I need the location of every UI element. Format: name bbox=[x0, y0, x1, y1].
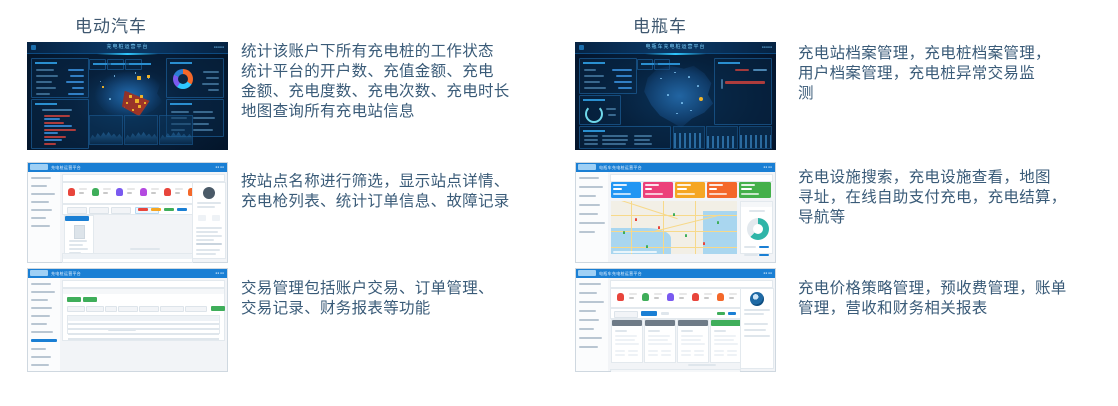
dashboard-clock: ●●●●● bbox=[762, 45, 772, 49]
kpi-card-orange[interactable] bbox=[707, 182, 737, 198]
brand-logo bbox=[30, 164, 48, 170]
description-price-policy: 充电价格策略管理，预收费管理，账单 管理，营收和财务相关报表 bbox=[798, 279, 1108, 319]
sparkline-3 bbox=[739, 126, 772, 149]
admin-content bbox=[60, 278, 227, 371]
kpi-card-amber[interactable] bbox=[675, 182, 705, 198]
account-aside bbox=[740, 288, 774, 369]
sparkline-2 bbox=[706, 126, 738, 149]
user-menu[interactable]: ●● ●● bbox=[763, 271, 772, 275]
description-station-detail: 按站点名称进行筛选，显示站点详情、 充电枪列表、统计订单信息、故障记录 bbox=[241, 172, 551, 212]
pagination[interactable] bbox=[130, 248, 160, 250]
admin-window: 电瓶车充电桩运营平台 ●● ●● bbox=[575, 268, 776, 372]
admin-content bbox=[60, 172, 227, 262]
pagination[interactable] bbox=[688, 364, 716, 366]
column-heading-left: 电动汽车 bbox=[75, 12, 147, 37]
title-glow bbox=[97, 53, 157, 55]
policy-card[interactable] bbox=[644, 319, 676, 363]
kpi-card-blue[interactable] bbox=[611, 182, 641, 198]
admin-content bbox=[608, 278, 775, 371]
gun-status-strip bbox=[62, 182, 193, 204]
facility-summary-panel bbox=[740, 201, 773, 254]
query-button[interactable] bbox=[211, 306, 225, 311]
description-ev-dashboard: 统计该账户下所有充电桩的工作状态 统计平台的开户数、充值金额、充电 金额、充电度… bbox=[241, 42, 551, 122]
column-heading-right: 电瓶车 bbox=[633, 12, 687, 37]
admin-sidebar[interactable] bbox=[28, 172, 61, 262]
screenshot-price-policy-admin[interactable]: 电瓶车充电桩运营平台 ●● ●● bbox=[575, 268, 776, 372]
dashboard-title: 电瓶车充电桩运营平台 bbox=[575, 43, 776, 50]
dashboard-title: 充电桩运营平台 bbox=[27, 43, 228, 50]
sparkline-2 bbox=[124, 115, 158, 145]
screenshot-facility-search-map[interactable]: 电瓶车充电桩运营平台 ●● ●● bbox=[575, 162, 776, 263]
sparkline-1 bbox=[89, 115, 123, 145]
sparkline-3 bbox=[159, 115, 193, 145]
brand-logo bbox=[578, 270, 596, 276]
transaction-table bbox=[67, 315, 220, 334]
policy-toolbar[interactable] bbox=[610, 308, 741, 319]
policy-card-active[interactable] bbox=[710, 319, 742, 363]
slide-canvas: 电动汽车 电瓶车 充电桩运营平台 ●●●●● bbox=[0, 0, 1118, 406]
filter-bar[interactable] bbox=[62, 204, 193, 215]
screenshot-station-detail-admin[interactable]: 充电桩运营平台 ●● ●● bbox=[27, 162, 228, 263]
description-facility-search: 充电设施搜索，充电设施查看，地图 寻址，在线自助支付充电，充电结算， 导航等 bbox=[798, 168, 1108, 228]
admin-title: 充电桩运营平台 bbox=[51, 271, 81, 277]
transaction-panel bbox=[62, 288, 225, 341]
search-button[interactable] bbox=[641, 311, 657, 316]
title-glow bbox=[645, 53, 705, 55]
dashboard-clock: ●●●●● bbox=[214, 45, 224, 49]
admin-content bbox=[608, 172, 775, 262]
breadcrumb bbox=[62, 280, 225, 288]
panel-status-donut bbox=[166, 58, 224, 98]
brand-logo bbox=[578, 164, 596, 170]
dashboard-canvas: 充电桩运营平台 ●●●●● bbox=[27, 42, 228, 150]
breadcrumb bbox=[62, 174, 225, 182]
panel-gauge bbox=[579, 95, 621, 125]
order-table bbox=[62, 253, 193, 263]
dashboard-canvas: 电瓶车充电桩运营平台 ●●●●● bbox=[575, 42, 776, 150]
admin-sidebar[interactable] bbox=[576, 278, 609, 371]
gun-status-strip bbox=[610, 288, 741, 308]
user-menu[interactable]: ●● ●● bbox=[215, 165, 224, 169]
breadcrumb bbox=[610, 280, 773, 288]
description-ebike-dashboard: 充电站档案管理，充电桩档案管理， 用户档案管理，充电桩异常交易监 测 bbox=[798, 44, 1108, 104]
kpi-card-pink[interactable] bbox=[643, 182, 673, 198]
breadcrumb bbox=[610, 174, 773, 182]
policy-card[interactable] bbox=[677, 319, 709, 363]
china-map[interactable] bbox=[635, 58, 723, 134]
sparkline-1 bbox=[673, 126, 705, 149]
panel-account-stats bbox=[579, 58, 637, 94]
screenshot-ev-operations-dashboard[interactable]: 充电桩运营平台 ●●●●● bbox=[27, 42, 228, 150]
screenshot-transaction-management-admin[interactable]: 充电桩运营平台 ●● ●● bbox=[27, 268, 228, 372]
policy-detail-table bbox=[610, 369, 741, 371]
station-info-aside bbox=[192, 182, 226, 259]
admin-window: 电瓶车充电桩运营平台 ●● ●● bbox=[575, 162, 776, 263]
admin-title: 充电桩运营平台 bbox=[51, 165, 81, 171]
kpi-card-green[interactable] bbox=[739, 182, 771, 198]
brand-logo bbox=[30, 270, 48, 276]
admin-title: 电瓶车充电桩运营平台 bbox=[599, 271, 642, 277]
admin-sidebar[interactable] bbox=[28, 278, 61, 371]
screenshot-ebike-operations-dashboard[interactable]: 电瓶车充电桩运营平台 ●●●●● bbox=[575, 42, 776, 150]
user-menu[interactable]: ●● ●● bbox=[763, 165, 772, 169]
avatar bbox=[750, 292, 764, 306]
admin-sidebar[interactable] bbox=[576, 172, 609, 262]
admin-window: 充电桩运营平台 ●● ●● bbox=[27, 268, 228, 372]
pagination[interactable] bbox=[108, 329, 136, 331]
admin-title: 电瓶车充电桩运营平台 bbox=[599, 165, 642, 171]
description-transaction-management: 交易管理包括账户交易、订单管理、 交易记录、财务报表等功能 bbox=[241, 279, 551, 319]
admin-window: 充电桩运营平台 ●● ●● bbox=[27, 162, 228, 263]
panel-alarm-trend bbox=[714, 58, 772, 125]
facility-map[interactable] bbox=[611, 201, 737, 254]
user-menu[interactable]: ●● ●● bbox=[215, 271, 224, 275]
policy-card[interactable] bbox=[611, 319, 643, 363]
